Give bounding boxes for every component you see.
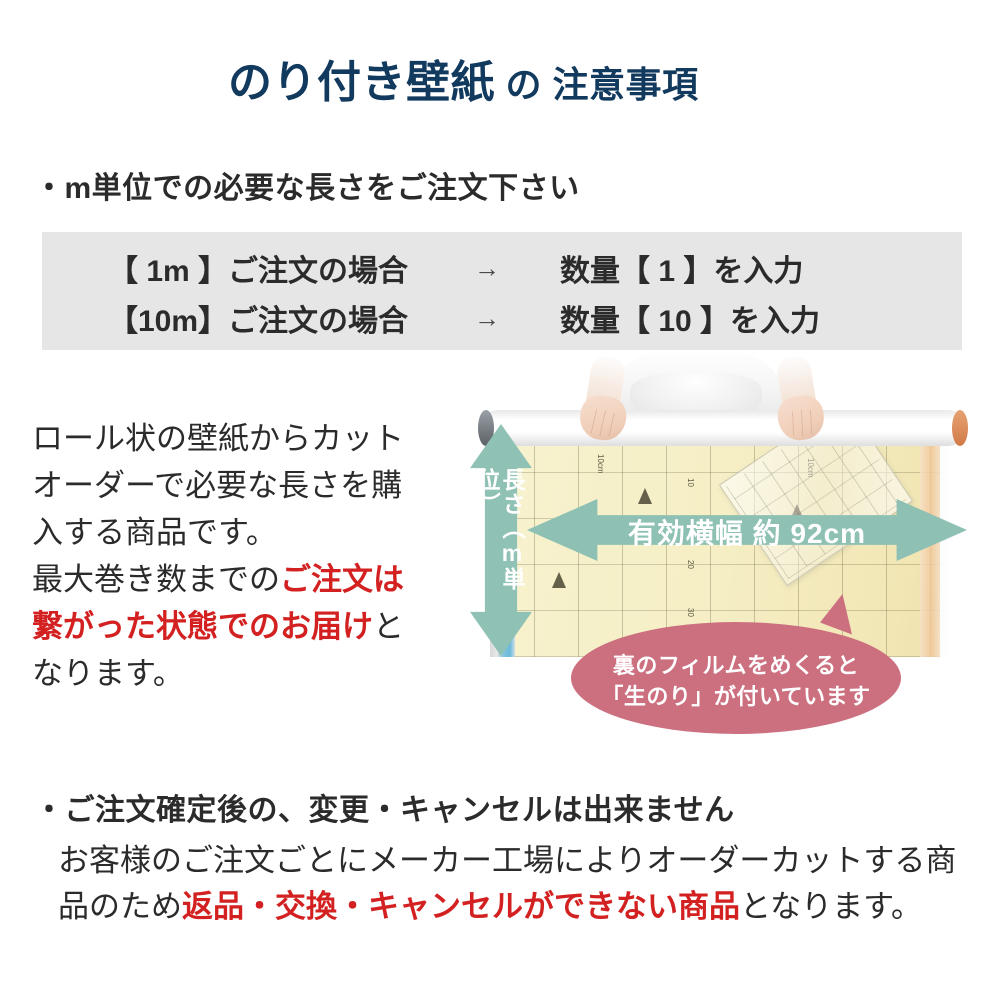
description-line-6: なります。 bbox=[32, 656, 184, 691]
description-line-1: ロール状の壁紙からカット bbox=[32, 421, 404, 456]
order-example-right: 数量【 1 】を入力 bbox=[542, 246, 962, 290]
page-title-suffix: の 注意事項 bbox=[495, 64, 699, 105]
ruler-mark-10: 10 bbox=[686, 478, 695, 487]
cancellation-body-part2: となります。 bbox=[740, 889, 922, 924]
arrow-right-icon: → bbox=[432, 253, 542, 284]
order-example-row: 【10m】ご注文の場合 → 数量【 10 】を入力 bbox=[42, 294, 962, 342]
section-heading-meter-unit: ・m単位での必要な長さをご注文下さい bbox=[34, 163, 580, 207]
description-line-2: オーダーで必要な長さを購 bbox=[32, 468, 402, 503]
arrow-right-icon: → bbox=[432, 303, 542, 334]
order-example-row: 【 1m 】ご注文の場合 → 数量【 1 】を入力 bbox=[42, 244, 962, 292]
order-example-left: 【 1m 】ご注文の場合 bbox=[42, 246, 432, 290]
ruler-mark-30: 30 bbox=[686, 608, 695, 617]
speech-bubble-line-2: 「生のり」が付いています bbox=[601, 684, 870, 709]
order-example-left: 【10m】ご注文の場合 bbox=[42, 296, 432, 340]
cancellation-emphasis: 返品・交換・キャンセルができない商品 bbox=[182, 889, 740, 924]
wallpaper-roll-tube bbox=[480, 410, 966, 446]
ruler-mark-20: 20 bbox=[686, 560, 695, 569]
description-line-4: 最大巻き数までの bbox=[32, 562, 280, 597]
description-emphasis-1: ご注文は bbox=[280, 562, 404, 597]
order-example-box: 【 1m 】ご注文の場合 → 数量【 1 】を入力 【10m】ご注文の場合 → … bbox=[42, 232, 962, 350]
section-heading-cancellation: ・ご注文確定後の、変更・キャンセルは出来ません bbox=[34, 785, 735, 829]
length-arrow-label: 長さ（m単位） bbox=[478, 468, 524, 618]
description-emphasis-2: 繋がった状態でのお届け bbox=[32, 609, 373, 644]
speech-bubble-line-1: 裏のフィルムをめくると bbox=[613, 653, 859, 678]
ruler-mark-10cm-left: 10cm bbox=[596, 454, 605, 474]
page-title-main: のり付き壁紙 bbox=[228, 58, 495, 107]
page-title: のり付き壁紙 の 注意事項 bbox=[228, 46, 699, 110]
speech-bubble-text: 裏のフィルムをめくると 「生のり」が付いています bbox=[571, 650, 901, 712]
product-description: ロール状の壁紙からカット オーダーで必要な長さを購 入する商品です。 最大巻き数… bbox=[32, 415, 462, 697]
width-arrow-label: 有効横幅 約 92cm bbox=[527, 512, 967, 552]
cancellation-body: お客様のご注文ごとにメーカー工場によりオーダーカットする商品のため返品・交換・キ… bbox=[58, 838, 978, 930]
order-example-right: 数量【 10 】を入力 bbox=[542, 296, 962, 340]
description-line-5-tail: と bbox=[373, 609, 404, 644]
roll-cap-right bbox=[952, 410, 968, 446]
description-line-3: 入する商品です。 bbox=[32, 515, 277, 550]
